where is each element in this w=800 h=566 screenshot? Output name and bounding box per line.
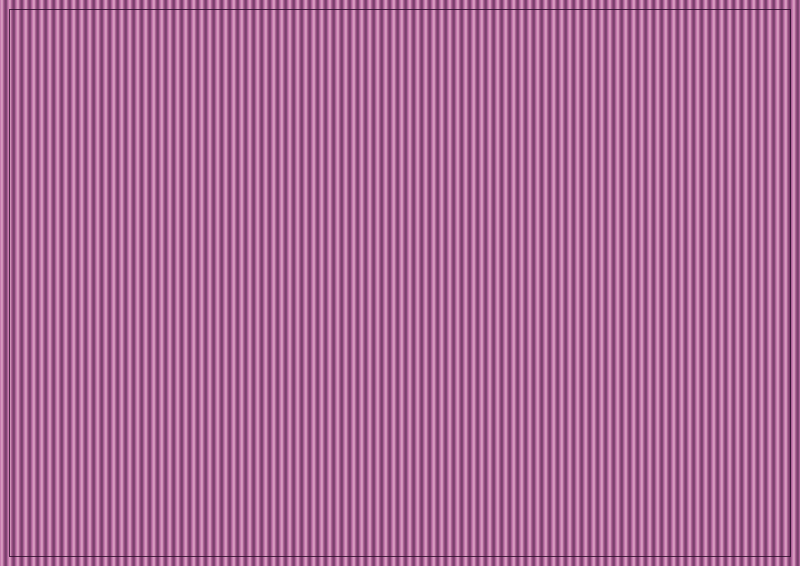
quote-author: Ю.А Гагарин [140,314,263,320]
date-year-range: 1961 - 2021 [36,518,99,538]
page-title: ДИПЛОМ [9,14,791,56]
photo-parade: Первый космонавт планеты [551,283,767,414]
photo-greeting: « Здравствуй Земля » [290,283,530,414]
date-block: 12 апреля 1961 - 2021 [36,498,99,538]
title-zone: ДИПЛОМ « 60 лет первому полету человека … [9,14,791,92]
kdr-club-emblem-icon: РАДИОЛЮБИТЕЛЬСКИЙ KDR КЛУБ ДОНСКОГО КРАЯ [667,460,721,514]
photo-before-start: Перед стартом [33,134,266,256]
emblem-ring-bottom-text: КЛУБ ДОНСКОГО КРАЯ [668,505,720,509]
page-subtitle: « 60 лет первому полету человека в космо… [9,62,791,92]
photo-caption-parade: Первый космонавт планеты [602,288,715,296]
photo-caption-greeting: « Здравствуй Земля » [435,399,523,407]
photo-caption-earth: « Наблюдаю Землю » [673,242,761,250]
awarded-label: НАГРАЖДАЕТСЯ [0,432,800,444]
photo-caption-poekhali: « Поехали !» [472,137,524,145]
recipient-line [170,462,630,463]
emblem-kdr-text: KDR [689,486,716,500]
diploma-certificate: ДИПЛОМ « 60 лет первому полету человека … [0,0,800,566]
photo-earth: « Наблюдаю Землю » [551,133,767,257]
signature-person: Ю.Каменских RU6UR [618,530,770,545]
gagarin-quote-box: «...корабль потемнел, обгорел, но именно… [136,286,267,324]
signature-role: Президент клуба KDR [618,515,770,530]
date-day-month: 12 апреля [36,498,99,518]
photo-caption-before-start: Перед стартом [199,240,260,248]
emblem-ring-top-text: РАДИОЛЮБИТЕЛЬСКИЙ [668,465,720,469]
quote-text: «...корабль потемнел, обгорел, но именно… [140,289,263,311]
photo-poekhali: « Поехали !» [290,131,531,258]
signature-block: РАДИОЛЮБИТЕЛЬСКИЙ KDR КЛУБ ДОНСКОГО КРАЯ… [618,460,770,545]
